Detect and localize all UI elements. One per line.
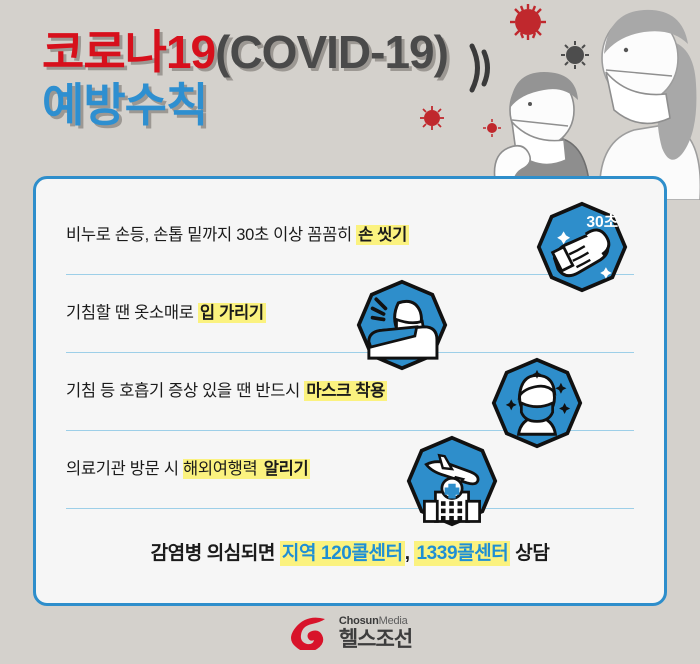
call-center-banner: 감염병 의심되면 지역 120콜센터, 1339콜센터 상담 [36,538,664,565]
logo-brand-media: Media [379,615,408,627]
logo-brand-english: ChosunMedia [339,616,412,627]
banner-separator: , [405,543,415,564]
title-line-2: 예방수칙 [42,81,512,130]
page-title: 코로나19(COVID-19) 예방수칙 [42,28,512,130]
banner-call-center-local: 지역 120콜센터 [280,541,405,566]
rule-text-highlight-plain: 해외여행력 [183,459,262,479]
rule-text-plain: 비누로 손등, 손톱 밑까지 30초 이상 꼼꼼히 [66,226,356,244]
rule-text: 기침할 땐 옷소매로 입 가리기 [66,303,266,324]
icon-badge-30sec: 30초 [586,213,618,231]
footer-logo: ChosunMedia 헬스조선 [0,616,700,650]
rule-text-plain: 의료기관 방문 시 [66,460,183,478]
logo-brand-korean: 헬스조선 [339,629,412,650]
rule-text-highlight: 알리기 [262,459,311,479]
rule-text-highlight: 손 씻기 [356,225,409,245]
rule-text-highlight: 입 가리기 [198,303,266,323]
rule-row: 기침 등 호흡기 증상 있을 땐 반드시 마스크 착용 [66,353,634,431]
banner-prefix: 감염병 의심되면 [151,543,280,564]
chosun-media-swoosh-icon [288,616,330,650]
logo-brand-chosun: Chosun [339,615,379,627]
title-covid19: (COVID-19) [215,26,448,78]
title-line-1: 코로나19(COVID-19) [42,28,512,77]
prevention-rules-card: 비누로 손등, 손톱 밑까지 30초 이상 꼼꼼히 손 씻기 30초 기침할 땐… [33,176,667,606]
banner-suffix: 상담 [510,543,549,564]
rule-text-plain: 기침 등 호흡기 증상 있을 땐 반드시 [66,382,304,400]
rule-row: 의료기관 방문 시 해외여행력 알리기 [66,431,634,509]
woman-figure [600,10,700,200]
title-corona19: 코로나19 [42,26,215,78]
masked-people-illustration [480,0,700,200]
rule-row: 기침할 땐 옷소매로 입 가리기 [66,275,634,353]
rule-row: 비누로 손등, 손톱 밑까지 30초 이상 꼼꼼히 손 씻기 30초 [66,197,634,275]
rule-text: 기침 등 호흡기 증상 있을 땐 반드시 마스크 착용 [66,381,387,402]
banner-call-center-1339: 1339콜센터 [414,541,510,566]
rule-text: 의료기관 방문 시 해외여행력 알리기 [66,459,310,480]
logo-text-block: ChosunMedia 헬스조선 [339,616,412,650]
airplane-hospital-icon [406,435,498,527]
rule-text-highlight: 마스크 착용 [304,381,387,401]
rule-text-plain: 기침할 땐 옷소매로 [66,304,198,322]
rule-text: 비누로 손등, 손톱 밑까지 30초 이상 꼼꼼히 손 씻기 [66,225,409,246]
